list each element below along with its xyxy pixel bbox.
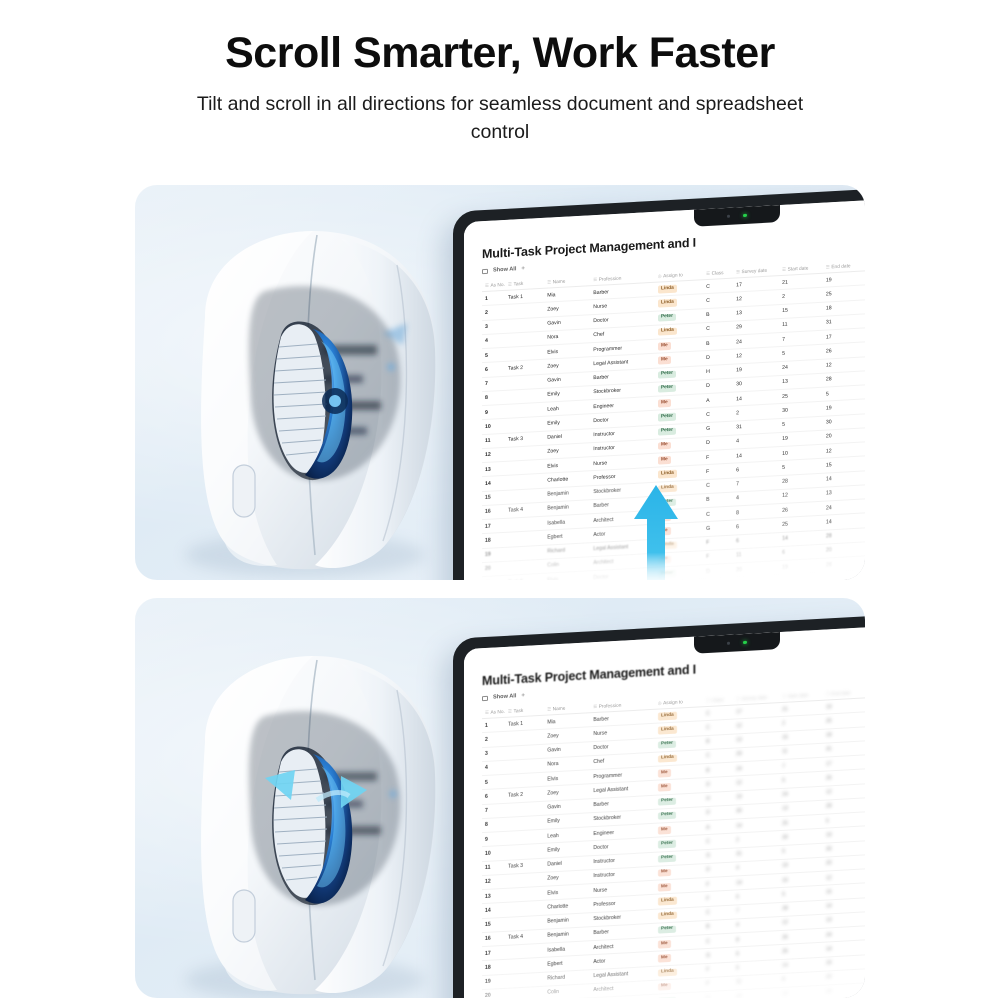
cell-number: 2 (482, 732, 505, 747)
column-type-icon: ☰ (826, 264, 830, 269)
cell-number: 4 (482, 760, 505, 775)
assignee-badge: Linda (658, 327, 677, 336)
cell-number: 8 (482, 817, 505, 832)
cell-number: 3 (482, 746, 505, 761)
cell-number: 11 (482, 433, 505, 448)
assignee-badge: Peter (658, 498, 676, 507)
cell-number: 19 (482, 974, 505, 989)
column-header-label: Survey date (742, 268, 768, 274)
column-type-icon: ◎ (658, 273, 662, 278)
assignee-badge: Peter (658, 570, 676, 579)
assignee-badge: Peter (658, 740, 676, 749)
column-header-label: Survey date (742, 695, 768, 701)
column-type-icon: ☰ (593, 703, 597, 708)
column-header-label: Assign to (663, 273, 683, 279)
assignee-badge: Me (658, 513, 671, 521)
cell-number: 5 (482, 347, 505, 362)
column-header-label: Profession (599, 276, 622, 282)
cell-number: 3 (482, 319, 505, 334)
assignee-badge: Linda (658, 754, 677, 763)
camera-led-icon (743, 641, 747, 645)
column-header-label: Task (513, 281, 523, 287)
column-type-icon: ☰ (782, 693, 786, 698)
cell-end-date: 25 (823, 570, 865, 580)
page-subtitle: Tilt and scroll in all directions for se… (190, 91, 810, 146)
assignee-badge: Peter (658, 811, 676, 820)
assignee-badge: Linda (658, 299, 677, 308)
cell-class: D (703, 577, 733, 580)
device-screen: Multi-Task Project Management and I Show… (464, 197, 865, 580)
cell-number: 14 (482, 903, 505, 918)
page-header: Scroll Smarter, Work Faster Tilt and scr… (0, 0, 1000, 147)
assignee-badge: Peter (658, 313, 676, 322)
cell-number: 13 (482, 888, 505, 903)
cell-end-date: 28 (823, 983, 865, 998)
mouse-product-vertical (145, 225, 475, 580)
column-header-label: Task (513, 708, 523, 714)
mouse-product-horizontal (145, 650, 475, 998)
laptop-device-horizontal: Multi-Task Project Management and I Show… (453, 613, 865, 998)
assignee-badge: Me (658, 826, 671, 834)
show-all-button[interactable]: Show All (493, 693, 516, 700)
column-type-icon: ☰ (508, 281, 512, 286)
vertical-scroll-panel: Multi-Task Project Management and I Show… (135, 185, 865, 580)
cell-number: 21 (482, 575, 505, 580)
cell-number: 1 (482, 290, 505, 305)
assignee-badge: Me (658, 983, 671, 991)
column-header-label: Class (712, 271, 724, 277)
cell-number: 5 (482, 774, 505, 789)
column-type-icon: ☰ (593, 276, 597, 281)
column-type-icon: ☰ (547, 279, 551, 284)
assignee-badge: Peter (658, 384, 676, 393)
cell-number: 14 (482, 476, 505, 491)
cell-number: 19 (482, 547, 505, 562)
cell-assign: Peter (655, 565, 703, 580)
cell-number: 7 (482, 376, 505, 391)
cell-number: 12 (482, 874, 505, 889)
cell-task: Task 5 (505, 573, 544, 580)
column-type-icon: ☰ (508, 708, 512, 713)
assignee-badge: Me (658, 342, 671, 350)
column-type-icon: ☰ (706, 270, 710, 275)
assignee-badge: Linda (658, 897, 677, 906)
cell-number: 2 (482, 305, 505, 320)
grid-view-icon[interactable] (482, 268, 488, 273)
cell-number: 18 (482, 533, 505, 548)
cell-start-date: 11 (779, 572, 823, 580)
cell-number: 13 (482, 461, 505, 476)
device-screen: Multi-Task Project Management and I Show… (464, 624, 865, 998)
add-view-icon[interactable]: + (521, 266, 525, 272)
assignee-badge: Me (658, 356, 671, 364)
cell-start-date: 19 (779, 985, 823, 998)
column-header-label: As No. (490, 709, 504, 715)
spreadsheet-vertical: Multi-Task Project Management and I Show… (464, 197, 865, 580)
camera-lens-icon (727, 642, 730, 645)
grid-view-icon[interactable] (482, 695, 488, 700)
assignee-badge: Me (658, 783, 671, 791)
assignee-badge: Peter (658, 413, 676, 422)
spreadsheet-table: ☰As No.☰Task☰Name☰Profession◎Assign to☰C… (482, 255, 865, 580)
assignee-badge: Me (658, 456, 671, 464)
assignee-badge: Linda (658, 968, 677, 977)
cell-number: 17 (482, 945, 505, 960)
cell-number: 12 (482, 447, 505, 462)
column-type-icon: ☰ (782, 266, 786, 271)
add-view-icon[interactable]: + (521, 693, 525, 699)
cell-number: 6 (482, 362, 505, 377)
column-header-label: Start date (788, 693, 809, 699)
cell-number: 17 (482, 518, 505, 533)
spreadsheet-horizontal: Multi-Task Project Management and I Show… (464, 624, 865, 998)
assignee-badge: Me (658, 527, 671, 535)
cell-number: 7 (482, 803, 505, 818)
cell-number: 10 (482, 419, 505, 434)
assignee-badge: Peter (658, 797, 676, 806)
column-type-icon: ☰ (485, 282, 489, 287)
assignee-badge: Peter (658, 840, 676, 849)
column-header-label: End date (831, 691, 850, 697)
column-type-icon: ☰ (485, 709, 489, 714)
cell-number: 20 (482, 561, 505, 576)
cell-name: Colin (544, 984, 590, 998)
cell-task (505, 986, 544, 998)
cell-number: 4 (482, 333, 505, 348)
cell-number: 16 (482, 504, 505, 519)
assignee-badge: Me (658, 556, 671, 564)
laptop-device-vertical: Multi-Task Project Management and I Show… (453, 186, 865, 580)
assignee-badge: Peter (658, 997, 676, 998)
table-body: 1Task 1MiaBarberLindaC172119On-Going102Z… (482, 266, 865, 580)
column-type-icon: ☰ (736, 269, 740, 274)
assignee-badge: Me (658, 883, 671, 891)
assignee-badge: Me (658, 869, 671, 877)
cell-number: 18 (482, 960, 505, 975)
cell-name: Elvis (544, 571, 590, 580)
show-all-button[interactable]: Show All (493, 266, 516, 273)
cell-class: D (703, 990, 733, 998)
assignee-badge: Linda (658, 712, 677, 721)
cell-number: 8 (482, 390, 505, 405)
cell-survey-date: 20 (733, 988, 779, 998)
assignee-badge: Me (658, 769, 671, 777)
assignee-badge: Linda (658, 726, 677, 735)
spreadsheet-table: ☰As No.☰Task☰Name☰Profession◎Assign to☰C… (482, 682, 865, 998)
assignee-badge: Linda (658, 911, 677, 920)
assignee-badge: Linda (658, 285, 677, 294)
column-header-label: Name (553, 279, 566, 285)
cell-number: 1 (482, 717, 505, 732)
assignee-badge: Me (658, 954, 671, 962)
horizontal-tilt-panel: Multi-Task Project Management and I Show… (135, 598, 865, 998)
column-header-label: Class (712, 698, 724, 704)
assignee-badge: Me (658, 940, 671, 948)
page-title: Scroll Smarter, Work Faster (0, 30, 1000, 77)
column-type-icon: ◎ (658, 700, 662, 705)
camera-led-icon (743, 214, 747, 218)
assignee-badge: Peter (658, 925, 676, 934)
column-header-label: Start date (788, 266, 809, 272)
assignee-badge: Peter (658, 427, 676, 436)
assignee-badge: Me (658, 399, 671, 407)
camera-lens-icon (727, 215, 730, 218)
cell-number: 10 (482, 846, 505, 861)
cell-number: 16 (482, 931, 505, 946)
assignee-badge: Me (658, 442, 671, 450)
column-type-icon: ☰ (547, 706, 551, 711)
column-header-label: Profession (599, 703, 622, 709)
cell-number: 9 (482, 404, 505, 419)
cell-number: 11 (482, 860, 505, 875)
column-type-icon: ☰ (706, 697, 710, 702)
column-type-icon: ☰ (826, 691, 830, 696)
assignee-badge: Peter (658, 370, 676, 379)
column-type-icon: ☰ (736, 696, 740, 701)
column-header-label: Name (553, 706, 566, 712)
cell-number: 15 (482, 917, 505, 932)
assignee-badge: Peter (658, 854, 676, 863)
cell-number: 20 (482, 988, 505, 998)
table-body: 1Task 1MiaBarberLindaC172119On-Going102Z… (482, 693, 865, 998)
column-header-label: Assign to (663, 700, 683, 706)
column-header-label: End date (831, 264, 850, 270)
cell-number: 6 (482, 789, 505, 804)
assignee-badge: Linda (658, 470, 677, 479)
assignee-badge: Linda (658, 541, 677, 550)
cell-number: 15 (482, 490, 505, 505)
column-header-label: As No. (490, 282, 504, 288)
cell-number: 9 (482, 831, 505, 846)
assignee-badge: Linda (658, 484, 677, 493)
